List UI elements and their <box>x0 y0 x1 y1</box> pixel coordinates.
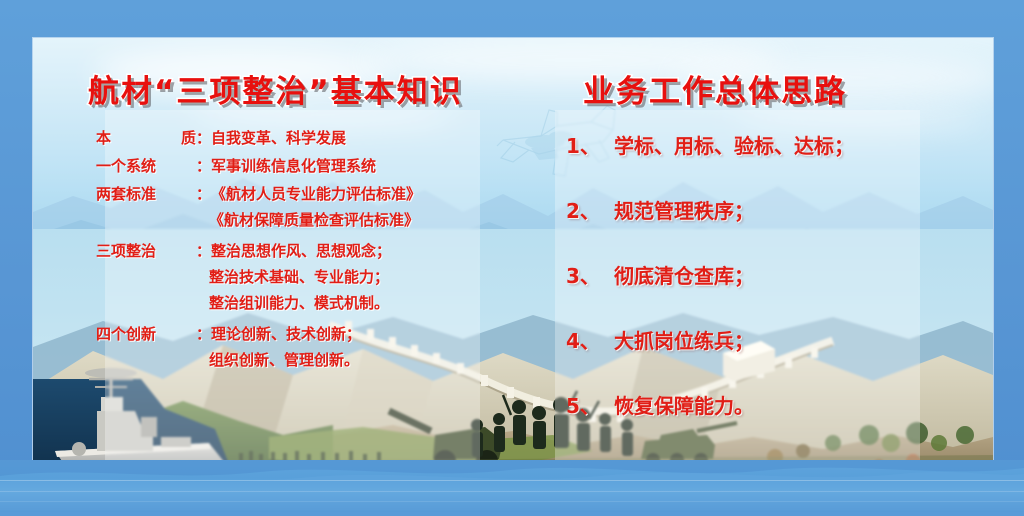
item-text: 恢复保障能力。 <box>614 394 754 418</box>
row-label: 一个系统 <box>96 155 196 176</box>
row-value: 军事训练信息化管理系统 <box>211 155 376 176</box>
bottom-water-strip <box>0 460 1024 512</box>
item-text: 大抓岗位练兵； <box>614 329 754 353</box>
water-wave-shape <box>0 460 1024 512</box>
row-label: 两套标准 <box>96 183 196 204</box>
item-text: 学标、用标、验标、达标； <box>614 134 854 158</box>
item-text: 规范管理秩序； <box>614 199 754 223</box>
row-separator: ： <box>196 240 211 261</box>
right-workplan-list: 1、学标、用标、验标、达标； 2、规范管理秩序； 3、彻底清仓查库； 4、大抓岗… <box>566 130 946 455</box>
poster-root: 航材“三项整治”基本知识 业务工作总体思路 本 质 ： 自我变革、科学发展 一个… <box>0 0 1024 512</box>
item-number: 1、 <box>566 130 614 159</box>
left-panel-title: 航材“三项整治”基本知识 <box>88 66 463 111</box>
list-item: 5、恢复保障能力。 <box>566 390 946 419</box>
list-item: 本 质 ： 自我变革、科学发展 <box>96 127 496 148</box>
item-number: 5、 <box>566 390 614 419</box>
row-value: 整治组训能力、模式机制。 <box>209 292 389 313</box>
row-separator: ： <box>196 183 211 204</box>
list-item: 一个系统 ： 军事训练信息化管理系统 <box>96 155 496 176</box>
row-value: 组织创新、管理创新。 <box>209 349 359 370</box>
list-item: 3、彻底清仓查库； <box>566 260 946 289</box>
left-knowledge-list: 本 质 ： 自我变革、科学发展 一个系统 ： 军事训练信息化管理系统 两套标准 … <box>96 127 496 377</box>
row-separator: ： <box>196 155 211 176</box>
list-item: 整治组训能力、模式机制。 <box>96 292 496 313</box>
row-label: 四个创新 <box>96 323 196 344</box>
row-value: 自我变革、科学发展 <box>211 127 346 148</box>
row-value: 整治技术基础、专业能力； <box>209 266 389 287</box>
item-number: 2、 <box>566 195 614 224</box>
water-highlight-line <box>0 491 1024 492</box>
row-separator: ： <box>196 127 211 148</box>
list-item: 三项整治 ： 整治思想作风、思想观念； <box>96 240 496 261</box>
item-number: 4、 <box>566 325 614 354</box>
row-label: 三项整治 <box>96 240 196 261</box>
list-item: 2、规范管理秩序； <box>566 195 946 224</box>
list-item: 4、大抓岗位练兵； <box>566 325 946 354</box>
row-label: 本 质 <box>96 127 196 148</box>
list-item: 两套标准 ： 《航材人员专业能力评估标准》 <box>96 183 496 204</box>
row-value: 整治思想作风、思想观念； <box>211 240 391 261</box>
row-value: 理论创新、技术创新； <box>211 323 361 344</box>
row-value: 《航材人员专业能力评估标准》 <box>211 183 421 204</box>
list-item: 1、学标、用标、验标、达标； <box>566 130 946 159</box>
right-panel-title: 业务工作总体思路 <box>583 66 847 111</box>
list-item: 《航材保障质量检查评估标准》 <box>96 209 496 230</box>
list-item: 四个创新 ： 理论创新、技术创新； <box>96 323 496 344</box>
item-text: 彻底清仓查库； <box>614 264 754 288</box>
item-number: 3、 <box>566 260 614 289</box>
list-item: 组织创新、管理创新。 <box>96 349 496 370</box>
list-item: 整治技术基础、专业能力； <box>96 266 496 287</box>
water-highlight-line <box>0 480 1024 481</box>
water-highlight-line <box>0 501 1024 502</box>
row-separator: ： <box>196 323 211 344</box>
row-value: 《航材保障质量检查评估标准》 <box>209 209 419 230</box>
